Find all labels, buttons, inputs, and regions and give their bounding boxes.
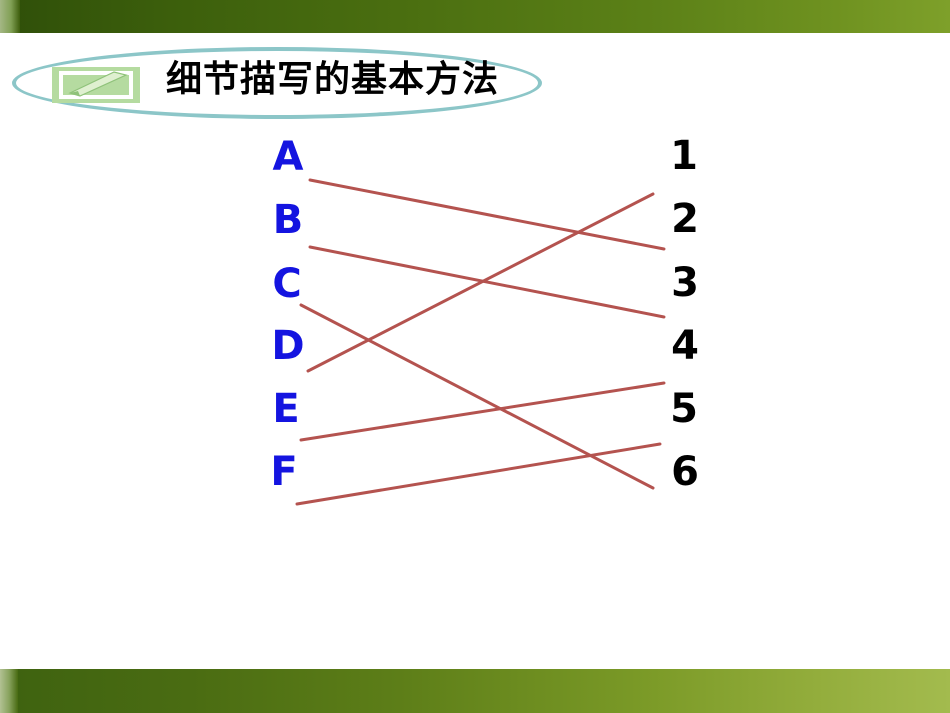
note-pencil-icon bbox=[52, 67, 140, 103]
match-right-item-4[interactable]: 4 bbox=[662, 326, 708, 366]
connection-line-D-2 bbox=[308, 194, 653, 371]
bottom-banner-left-edge bbox=[0, 669, 18, 713]
match-right-item-1[interactable]: 1 bbox=[661, 136, 707, 176]
match-right-item-5[interactable]: 5 bbox=[661, 389, 707, 429]
connection-line-E-5 bbox=[301, 383, 664, 440]
top-banner-left-edge bbox=[0, 0, 20, 33]
connection-line-B-4 bbox=[310, 247, 664, 317]
match-left-item-d[interactable]: D bbox=[265, 326, 311, 366]
match-left-item-c[interactable]: C bbox=[264, 264, 310, 304]
match-right-item-3[interactable]: 3 bbox=[662, 263, 708, 303]
match-right-item-2[interactable]: 2 bbox=[662, 199, 708, 239]
connection-line-A-3 bbox=[310, 180, 664, 249]
slide-canvas: 细节描写的基本方法 ABCDEF 123456 bbox=[0, 0, 950, 713]
connection-line-C-6 bbox=[301, 305, 653, 488]
match-right-item-6[interactable]: 6 bbox=[662, 452, 708, 492]
match-left-item-a[interactable]: A bbox=[265, 137, 311, 177]
page-title: 细节描写的基本方法 bbox=[166, 57, 499, 103]
bottom-banner bbox=[0, 669, 950, 713]
top-banner bbox=[0, 0, 950, 33]
match-left-item-e[interactable]: E bbox=[263, 389, 309, 429]
match-left-item-b[interactable]: B bbox=[265, 200, 311, 240]
connection-line-F-6 bbox=[297, 444, 660, 504]
match-left-item-f[interactable]: F bbox=[261, 452, 307, 492]
